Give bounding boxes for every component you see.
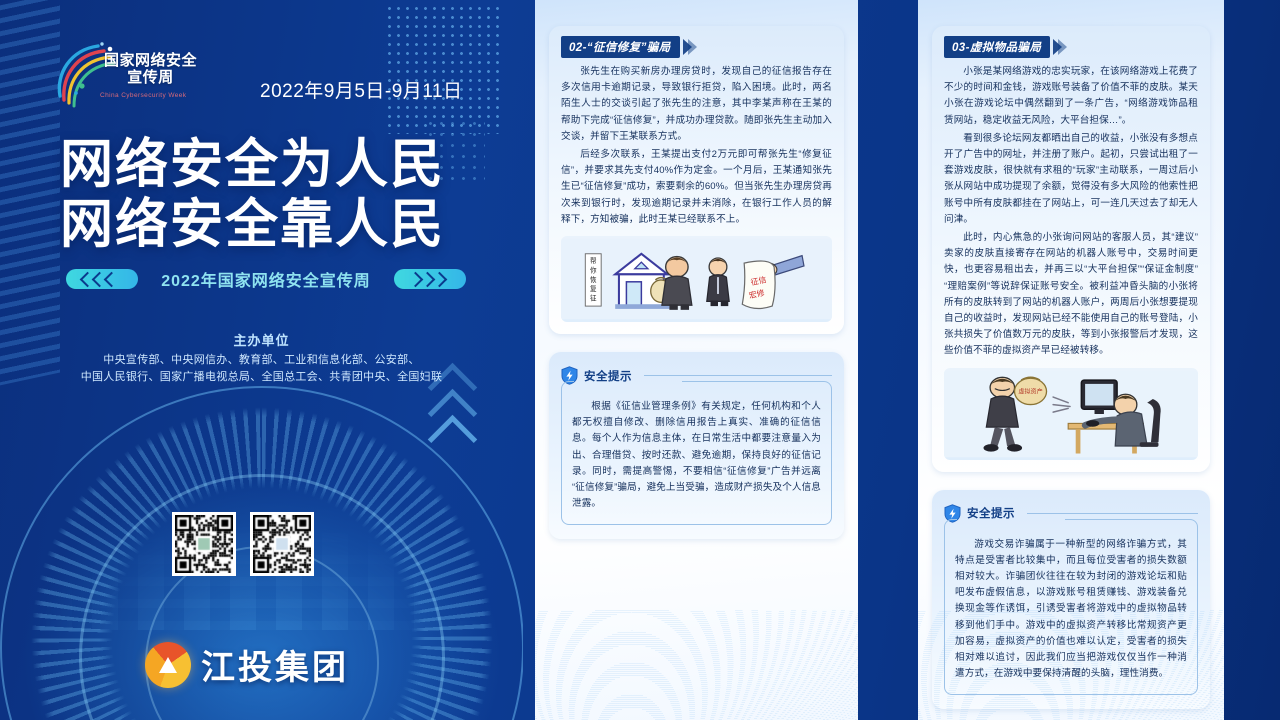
svg-text:恢: 恢 — [590, 275, 597, 284]
sub-banner: 2022年国家网络安全宣传周 — [66, 266, 466, 292]
panel-wave-decoration — [535, 610, 858, 720]
story-paragraph: 小张是某网络游戏的忠实玩家，在该网络游戏上花费了不少的时间和金钱，游戏账号装备了… — [944, 64, 1198, 129]
sub-banner-chip-left — [66, 269, 138, 289]
svg-text:你: 你 — [590, 265, 597, 274]
story-paragraph: 张先生在购买新房办理房贷时，发现自己的征信报告存在多次信用卡逾期记录，导致银行拒… — [561, 64, 832, 145]
safety-tips-body: 游戏交易诈骗属于一种新型的网络诈骗方式，其特点是受害者比较集中，而且每位受害者的… — [944, 529, 1198, 696]
section-badge-label: 03-虚拟物品骗局 — [944, 36, 1050, 58]
logo-title-line1: 国家网络安全 — [104, 52, 197, 69]
svg-text:征: 征 — [590, 294, 597, 303]
decorative-dot-grid — [385, 4, 505, 134]
safety-tips-title: 安全提示 — [967, 505, 1015, 521]
section-header-03: 03-虚拟物品骗局 — [944, 36, 1198, 58]
decorative-chevrons — [435, 370, 481, 490]
group-logo: 江投集团 — [145, 640, 349, 689]
main-poster: 国家网络安全 宣传周 China Cybersecurity Week 2022… — [0, 0, 523, 720]
headline-line-2: 网络安全靠人民 — [60, 195, 480, 255]
safety-tips-text: 根据《征信业管理条例》有关规定，任何机构和个人都无权擅自修改、删除信用报告上真实… — [572, 399, 821, 512]
qr-code-1[interactable] — [172, 512, 236, 576]
story-paragraph: 看到很多论坛网友都晒出自己的收益，小张没有多想点开了广告中的网址，并注册了账户。… — [944, 131, 1198, 228]
headline-line-1: 网络安全为人民 — [60, 135, 480, 195]
logo-title-line2: 宣传周 — [104, 69, 197, 86]
svg-text:复: 复 — [590, 284, 597, 293]
safety-tips-card-03: 安全提示 游戏交易诈骗属于一种新型的网络诈骗方式，其特点是受害者比较集中，而且每… — [932, 490, 1210, 710]
chevron-right-icon-secondary — [1058, 39, 1067, 55]
story-card-03: 03-虚拟物品骗局 小张是某网络游戏的忠实玩家，在该网络游戏上花费了不少的时间和… — [932, 26, 1210, 472]
safety-tips-body: 根据《征信业管理条例》有关规定，任何机构和个人都无权擅自修改、删除信用报告上真实… — [561, 391, 832, 525]
sub-banner-text: 2022年国家网络安全宣传周 — [138, 267, 394, 291]
article-panel-03: 03-虚拟物品骗局 小张是某网络游戏的忠实玩家，在该网络游戏上花费了不少的时间和… — [918, 0, 1224, 720]
safety-tips-title: 安全提示 — [584, 368, 632, 384]
section-header-02: 02-“征信修复”骗局 — [561, 36, 832, 58]
sub-banner-chip-right — [394, 269, 466, 289]
safety-tips-card-02: 安全提示 根据《征信业管理条例》有关规定，任何机构和个人都无权擅自修改、删除信用… — [549, 352, 844, 539]
safety-tips-text: 游戏交易诈骗属于一种新型的网络诈骗方式，其特点是受害者比较集中，而且每位受害者的… — [955, 537, 1187, 683]
story-paragraph: 此时，内心焦急的小张询问网站的客服人员，其“建议”卖家的皮肤直接寄存在网站的机器… — [944, 230, 1198, 360]
poster-headline: 网络安全为人民 网络安全靠人民 — [60, 135, 480, 255]
chevron-right-icon-secondary — [688, 39, 697, 55]
illustration-graphic: 虚拟资产 — [944, 368, 1198, 460]
illustration-virtual-asset-theft: 虚拟资产 — [944, 368, 1198, 460]
story-paragraph: 后经多次联系，王某提出支付2万元即可帮张先生“修复征信”，并要求其先支付40%作… — [561, 147, 832, 228]
illustration-credit-repair: 帮 你 恢 复 征 — [561, 236, 832, 322]
svg-text:虚拟资产: 虚拟资产 — [1018, 387, 1042, 395]
poster-screenshot: 国家网络安全 宣传周 China Cybersecurity Week 2022… — [0, 0, 1280, 720]
cybersecurity-week-logo: 国家网络安全 宣传周 China Cybersecurity Week — [52, 40, 197, 110]
qr-code-group — [172, 512, 314, 576]
qr-code-2[interactable] — [250, 512, 314, 576]
safety-tips-rule — [644, 375, 832, 376]
organizer-label: 主办单位 — [0, 330, 523, 349]
story-card-02: 02-“征信修复”骗局 张先生在购买新房办理房贷时，发现自己的征信报告存在多次信… — [549, 26, 844, 334]
organizer-line-2: 中国人民银行、国家广播电视总局、全国总工会、共青团中央、全国妇联 — [0, 369, 523, 386]
organizer-line-1: 中央宣传部、中央网信办、教育部、工业和信息化部、公安部、 — [0, 352, 523, 369]
group-logo-mark-icon — [145, 642, 191, 688]
svg-text:帮: 帮 — [590, 256, 597, 265]
logo-english-title: China Cybersecurity Week — [100, 92, 186, 99]
section-badge-label: 02-“征信修复”骗局 — [561, 36, 680, 58]
safety-tips-rule — [1027, 513, 1198, 514]
logo-title: 国家网络安全 宣传周 — [104, 52, 197, 86]
organizer-list: 中央宣传部、中央网信办、教育部、工业和信息化部、公安部、 中国人民银行、国家广播… — [0, 352, 523, 386]
event-date-range: 2022年9月5日-9月11日 — [260, 76, 463, 103]
article-panel-02: 02-“征信修复”骗局 张先生在购买新房办理房贷时，发现自己的征信报告存在多次信… — [535, 0, 858, 720]
group-logo-text: 江投集团 — [201, 640, 349, 689]
illustration-graphic: 帮 你 恢 复 征 — [561, 236, 832, 322]
